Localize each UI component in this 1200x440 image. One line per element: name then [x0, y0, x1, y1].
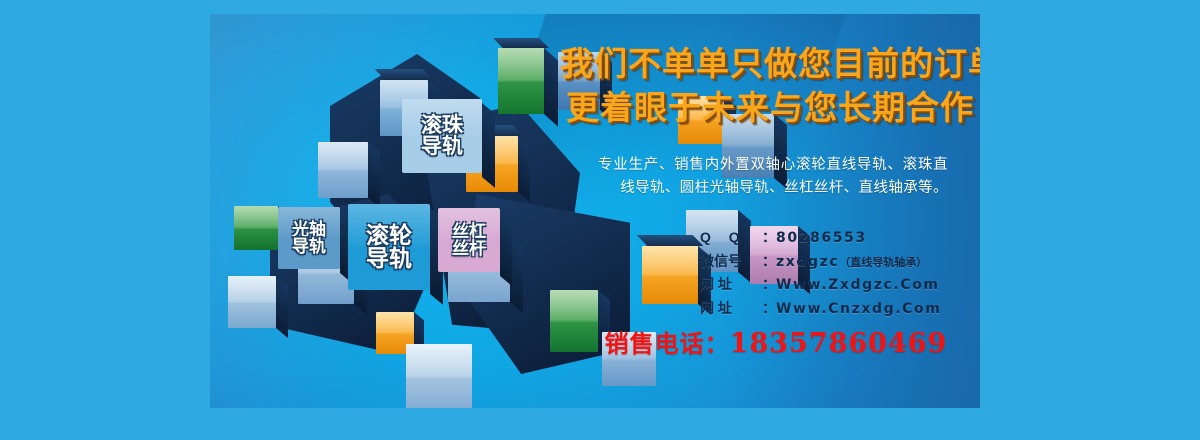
contact-label: 网 址	[700, 297, 762, 320]
banner-canvas: 滚珠 导轨 光轴 导轨 滚轮 导轨	[210, 14, 980, 408]
description-text: 专业生产、销售内外置双轴心滚轮直线导轨、滚珠直线导轨、圆柱光轴导轨、丝杠丝杆、直…	[598, 154, 948, 201]
product-cube-line: 导轨	[366, 247, 412, 270]
product-cube-optical-axis-guide-rail[interactable]: 光轴 导轨	[278, 207, 340, 269]
contact-value-website-1[interactable]: Www.Zxdgzc.Com	[776, 274, 940, 297]
headline: 我们不单单只做您目前的订单 更着眼于未来与您长期合作	[560, 42, 980, 130]
contact-note-wechat: （直线导轨轴承）	[839, 255, 927, 273]
contact-row-website-2: 网 址 ： Www.Cnzxdg.Com	[700, 297, 980, 321]
product-cube-line: 丝杠	[452, 223, 486, 240]
cube-pale-bottom-center	[406, 344, 472, 408]
product-cube-ball-guide-rail[interactable]: 滚珠 导轨	[402, 99, 482, 173]
cube-pale-left	[318, 142, 368, 198]
product-cube-line: 光轴	[292, 221, 326, 238]
product-cube-line: 导轨	[421, 136, 463, 157]
product-cube-roller-guide-rail[interactable]: 滚轮 导轨	[348, 204, 430, 290]
cube-pale-far-left-bottom	[228, 276, 276, 328]
contact-row-website-1: 网 址 ： Www.Zxdgzc.Com	[700, 273, 980, 297]
contact-separator: ：	[762, 226, 776, 249]
contact-label: 微信号	[700, 250, 762, 273]
contact-separator: ：	[762, 273, 776, 296]
banner-text-column: 我们不单单只做您目前的订单 更着眼于未来与您长期合作 专业生产、销售内外置双轴心…	[560, 14, 980, 408]
contact-label: 网 址	[700, 273, 762, 296]
contact-block: Q Q ： 80286553 微信号 ： zxdgzc （直线导轨轴承） 网 址…	[700, 226, 980, 321]
contact-row-wechat: 微信号 ： zxdgzc （直线导轨轴承）	[700, 250, 980, 274]
cube-green	[498, 48, 544, 114]
product-cube-line: 滚轮	[366, 224, 412, 247]
contact-value-wechat[interactable]: zxdgzc	[776, 251, 839, 274]
headline-line-2: 更着眼于未来与您长期合作	[560, 86, 980, 130]
contact-value-website-2[interactable]: Www.Cnzxdg.Com	[776, 298, 941, 321]
sales-phone-label: 销售电话：	[605, 324, 730, 359]
product-cube-lead-screw[interactable]: 丝杠 丝杆	[438, 208, 500, 272]
product-cube-line: 丝杆	[452, 240, 486, 257]
banner-image: 滚珠 导轨 光轴 导轨 滚轮 导轨	[0, 0, 1200, 440]
product-cube-line: 导轨	[292, 238, 326, 255]
cube-green-far-left	[234, 206, 278, 250]
sales-phone-number[interactable]: 18357860469	[730, 328, 948, 359]
headline-line-1: 我们不单单只做您目前的订单	[560, 42, 980, 86]
contact-separator: ：	[762, 297, 776, 320]
contact-label: Q Q	[700, 226, 762, 249]
sales-phone[interactable]: 销售电话： 18357860469	[572, 324, 980, 359]
contact-row-qq: Q Q ： 80286553	[700, 226, 980, 250]
contact-value-qq[interactable]: 80286553	[776, 227, 867, 250]
product-cube-line: 滚珠	[421, 115, 463, 136]
contact-separator: ：	[762, 250, 776, 273]
